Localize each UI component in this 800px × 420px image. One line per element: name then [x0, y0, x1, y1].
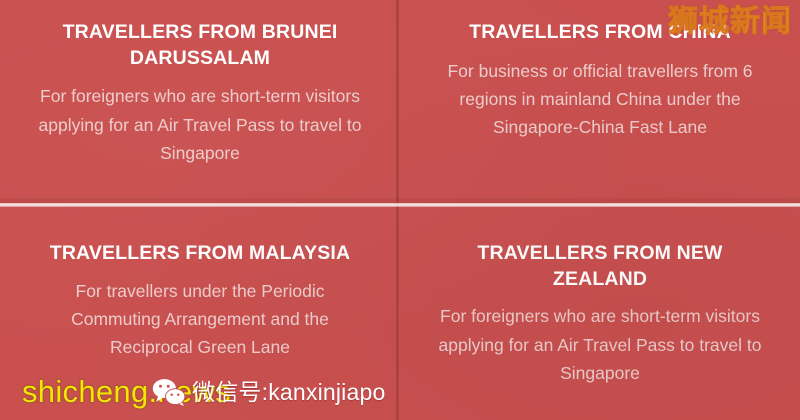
- wechat-icon: [152, 378, 186, 406]
- card-travellers-new-zealand[interactable]: TRAVELLERS FROM NEW ZEALAND For foreigne…: [400, 205, 800, 420]
- card-title: TRAVELLERS FROM BRUNEI DARUSSALAM: [35, 20, 365, 71]
- travel-lane-card-grid: TRAVELLERS FROM BRUNEI DARUSSALAM For fo…: [0, 0, 800, 420]
- card-title: TRAVELLERS FROM NEW ZEALAND: [435, 241, 765, 292]
- card-travellers-brunei[interactable]: TRAVELLERS FROM BRUNEI DARUSSALAM For fo…: [0, 0, 400, 205]
- card-description: For travellers under the Periodic Commut…: [35, 277, 365, 362]
- watermark-wechat: 微信号:kanxinjiapo: [152, 378, 385, 406]
- card-description: For foreigners who are short-term visito…: [35, 82, 365, 167]
- watermark-wechat-id: 微信号:kanxinjiapo: [192, 381, 385, 404]
- card-description: For business or official travellers from…: [435, 57, 765, 142]
- card-description: For foreigners who are short-term visito…: [435, 302, 765, 387]
- card-title: TRAVELLERS FROM MALAYSIA: [50, 241, 350, 267]
- watermark-chinese-brand: 狮城新闻: [668, 7, 792, 37]
